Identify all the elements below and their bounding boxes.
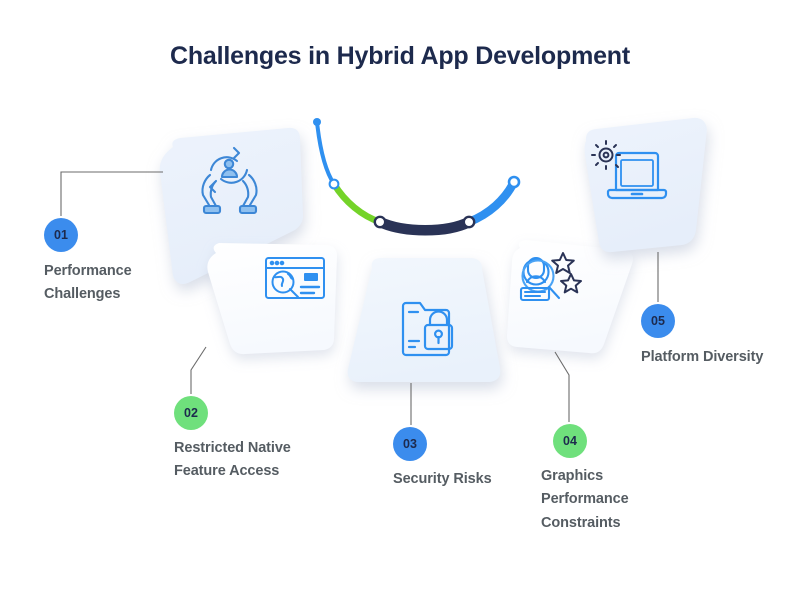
connector-line-02	[191, 347, 206, 394]
connector-line-01	[61, 172, 163, 216]
segment-green	[334, 184, 380, 222]
badge-01[interactable]: 01	[44, 218, 78, 252]
node-start	[313, 118, 321, 126]
badge-05[interactable]: 05	[641, 304, 675, 338]
infographic-canvas: Challenges in Hybrid App Development	[0, 0, 800, 603]
node-1	[330, 180, 339, 189]
item-label-04: Graphics Performance Constraints	[541, 465, 681, 535]
petal-3[interactable]	[348, 258, 501, 382]
connector-line-04	[555, 352, 569, 422]
node-3	[464, 217, 474, 227]
segment-lightblue	[469, 182, 514, 222]
node-end	[509, 177, 519, 187]
badge-04[interactable]: 04	[553, 424, 587, 458]
petal-5[interactable]	[585, 118, 707, 252]
segment-thin-blue	[317, 122, 334, 184]
segment-navy	[380, 222, 469, 230]
badge-02[interactable]: 02	[174, 396, 208, 430]
node-2	[375, 217, 385, 227]
segmented-arc-graphic	[313, 118, 519, 230]
item-label-01: Performance Challenges	[44, 260, 184, 307]
badge-03[interactable]: 03	[393, 427, 427, 461]
item-label-02: Restricted Native Feature Access	[174, 437, 324, 484]
item-label-03: Security Risks	[393, 468, 543, 491]
item-label-05: Platform Diversity	[641, 346, 771, 369]
